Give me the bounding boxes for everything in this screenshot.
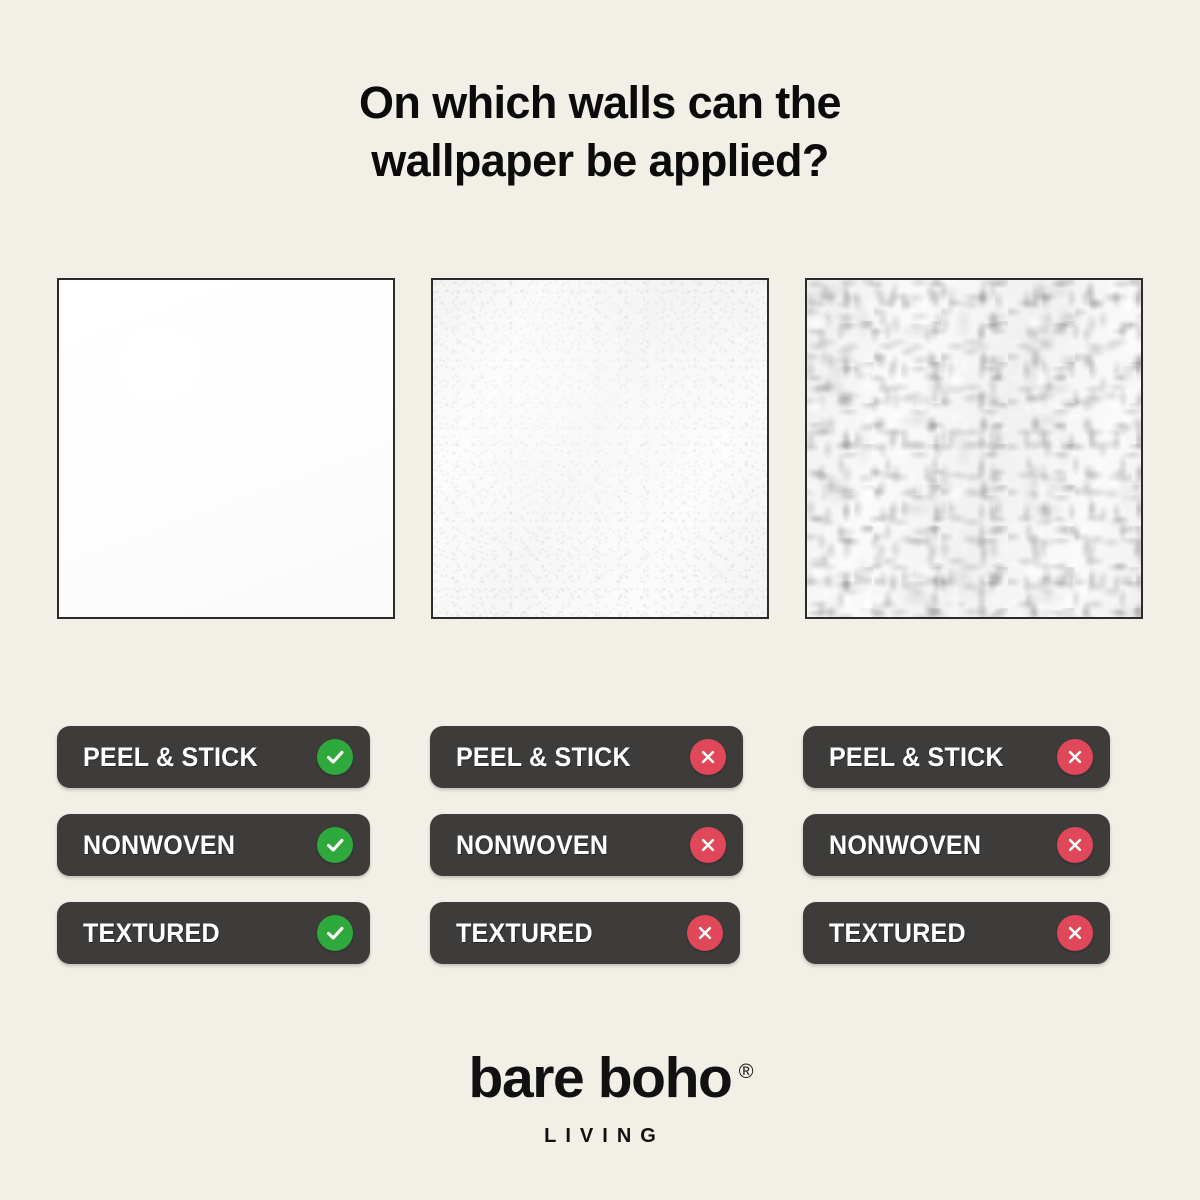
badge-label: NONWOVEN bbox=[456, 830, 608, 861]
smooth-wall-texture bbox=[59, 280, 393, 617]
page-title-line-1: On which walls can the bbox=[359, 77, 841, 128]
badge-label: PEEL & STICK bbox=[456, 742, 631, 773]
badge-column-smooth-wall: PEEL & STICK NONWOVEN TEXTURED bbox=[57, 726, 370, 964]
wall-sample-heavily-textured bbox=[805, 278, 1143, 619]
brand-name: bare boho ® bbox=[469, 1046, 732, 1110]
x-circle-icon bbox=[1057, 739, 1093, 775]
badge-peel-and-stick-heavily-textured: PEEL & STICK bbox=[803, 726, 1110, 788]
badge-nonwoven-heavily-textured: NONWOVEN bbox=[803, 814, 1110, 876]
compatibility-badge-grid: PEEL & STICK NONWOVEN TEXTURED bbox=[0, 726, 1200, 966]
badge-label: NONWOVEN bbox=[829, 830, 981, 861]
fine-stucco-wall-texture bbox=[433, 280, 767, 617]
badge-textured-smooth: TEXTURED bbox=[57, 902, 370, 964]
check-circle-icon bbox=[317, 915, 353, 951]
badge-label: TEXTURED bbox=[829, 918, 966, 949]
badge-textured-heavily-textured: TEXTURED bbox=[803, 902, 1110, 964]
brand-name-text: bare boho bbox=[469, 1046, 732, 1110]
badge-nonwoven-smooth: NONWOVEN bbox=[57, 814, 370, 876]
badge-label: PEEL & STICK bbox=[829, 742, 1004, 773]
badge-column-lightly-textured-wall: PEEL & STICK NONWOVEN TEXTURED bbox=[430, 726, 743, 964]
wall-sample-gallery bbox=[57, 278, 1143, 619]
badge-nonwoven-lightly-textured: NONWOVEN bbox=[430, 814, 743, 876]
heavy-plaster-wall-texture bbox=[807, 280, 1141, 617]
badge-column-heavily-textured-wall: PEEL & STICK NONWOVEN TEXTURED bbox=[803, 726, 1110, 964]
x-circle-icon bbox=[1057, 827, 1093, 863]
x-circle-icon bbox=[690, 739, 726, 775]
wall-sample-smooth bbox=[57, 278, 395, 619]
x-circle-icon bbox=[690, 827, 726, 863]
check-circle-icon bbox=[317, 739, 353, 775]
brand-tagline: LIVING bbox=[0, 1125, 1200, 1148]
badge-label: TEXTURED bbox=[456, 918, 593, 949]
page-title-line-2: wallpaper be applied? bbox=[0, 132, 1200, 190]
badge-label: TEXTURED bbox=[83, 918, 220, 949]
x-circle-icon bbox=[687, 915, 723, 951]
badge-label: NONWOVEN bbox=[83, 830, 235, 861]
badge-peel-and-stick-smooth: PEEL & STICK bbox=[57, 726, 370, 788]
badge-textured-lightly-textured: TEXTURED bbox=[430, 902, 740, 964]
x-circle-icon bbox=[1057, 915, 1093, 951]
page-title: On which walls can the wallpaper be appl… bbox=[0, 74, 1200, 190]
wall-sample-lightly-textured bbox=[431, 278, 769, 619]
check-circle-icon bbox=[317, 827, 353, 863]
badge-peel-and-stick-lightly-textured: PEEL & STICK bbox=[430, 726, 743, 788]
brand-logo: bare boho ® LIVING bbox=[0, 1046, 1200, 1148]
badge-label: PEEL & STICK bbox=[83, 742, 258, 773]
registered-trademark-icon: ® bbox=[739, 1040, 754, 1104]
